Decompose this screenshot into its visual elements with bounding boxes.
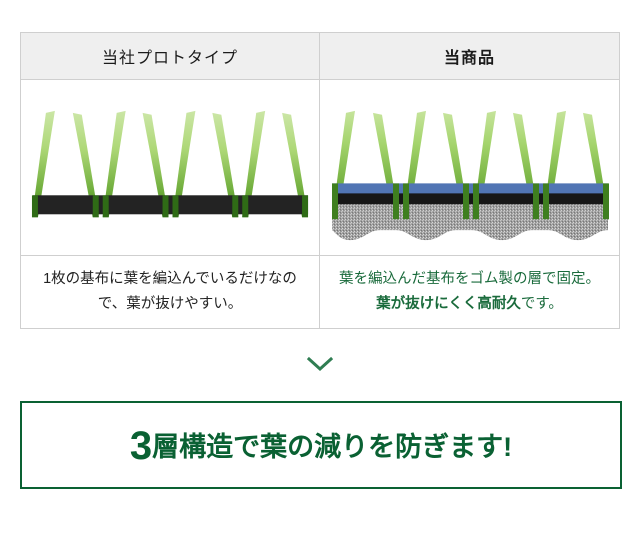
comparison-header-cell-left: 当社プロトタイプ [21,33,320,80]
chevron-down-icon [307,356,333,372]
comparison-header-row: 当社プロトタイプ 当商品 [21,33,619,80]
three-layer-turf-icon [320,80,619,255]
summary-banner-text: 3層構造で葉の減りを防ぎます! [130,425,512,466]
caption-product-prefix: 葉を編込んだ基布をゴム製の層で固定。 [339,271,600,287]
summary-banner-highlight: 3 [130,424,152,468]
section-divider [0,356,640,372]
column-header-prototype: 当社プロトタイプ [102,44,238,68]
caption-prototype: 1枚の基布に葉を編込んでいるだけなので、葉が抜けやすい。 [35,267,305,318]
caption-product-emphasis: 葉が抜けにくく高耐久 [376,296,521,312]
illustration-cell-product [320,80,619,256]
comparison-header-cell-right: 当商品 [320,33,619,80]
single-layer-turf-icon [21,80,319,255]
caption-product: 葉を編込んだ基布をゴム製の層で固定。葉が抜けにくく高耐久です。 [334,267,605,318]
illustration-cell-prototype [21,80,320,256]
comparison-illustration-row [21,80,619,256]
comparison-table: 当社プロトタイプ 当商品 [20,32,620,329]
column-header-product: 当商品 [444,44,495,68]
caption-cell-prototype: 1枚の基布に葉を編込んでいるだけなので、葉が抜けやすい。 [21,256,320,328]
summary-banner-body: 層構造で葉の減りを防ぎます! [152,432,512,462]
caption-product-suffix: です。 [521,296,563,312]
summary-banner: 3層構造で葉の減りを防ぎます! [20,401,622,489]
caption-prototype-text: 1枚の基布に葉を編込んでいるだけなので、葉が抜けやすい。 [43,271,297,312]
comparison-caption-row: 1枚の基布に葉を編込んでいるだけなので、葉が抜けやすい。 葉を編込んだ基布をゴム… [21,256,619,328]
caption-cell-product: 葉を編込んだ基布をゴム製の層で固定。葉が抜けにくく高耐久です。 [320,256,619,328]
